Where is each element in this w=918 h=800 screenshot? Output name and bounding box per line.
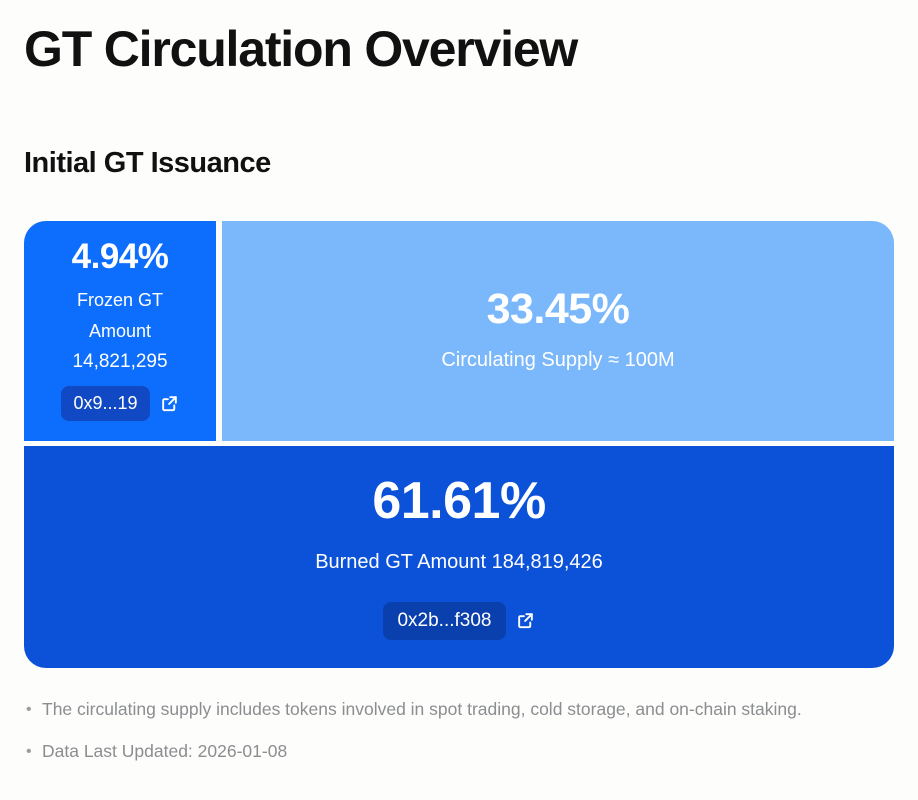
page-title: GT Circulation Overview bbox=[24, 17, 577, 81]
footnote-item: The circulating supply includes tokens i… bbox=[24, 694, 894, 725]
external-link-icon[interactable] bbox=[516, 611, 535, 630]
circulating-percent: 33.45% bbox=[487, 287, 630, 332]
segment-frozen-gt[interactable]: 4.94% Frozen GT Amount 14,821,295 0x9...… bbox=[24, 221, 216, 441]
burned-address-badge[interactable]: 0x2b...f308 bbox=[383, 602, 505, 640]
frozen-label-line1: Frozen GT bbox=[77, 285, 163, 316]
footnote-list: The circulating supply includes tokens i… bbox=[24, 694, 894, 767]
segment-circulating-supply[interactable]: 33.45% Circulating Supply ≈ 100M bbox=[222, 221, 894, 441]
gt-circulation-page: GT Circulation Overview Initial GT Issua… bbox=[0, 0, 918, 800]
issuance-breakdown-chart: 4.94% Frozen GT Amount 14,821,295 0x9...… bbox=[24, 221, 894, 668]
burned-address-row: 0x2b...f308 bbox=[383, 602, 534, 640]
burned-percent: 61.61% bbox=[372, 474, 545, 529]
section-title: Initial GT Issuance bbox=[24, 142, 271, 184]
frozen-address-badge[interactable]: 0x9...19 bbox=[61, 386, 149, 421]
external-link-icon[interactable] bbox=[160, 394, 179, 413]
footnote-item: Data Last Updated: 2026-01-08 bbox=[24, 736, 894, 767]
frozen-amount: 14,821,295 bbox=[72, 347, 167, 377]
segment-burned-gt[interactable]: 61.61% Burned GT Amount 184,819,426 0x2b… bbox=[24, 446, 894, 668]
frozen-label-line2: Amount bbox=[89, 316, 151, 347]
frozen-address-row: 0x9...19 bbox=[61, 386, 178, 421]
burned-label: Burned GT Amount 184,819,426 bbox=[315, 547, 603, 577]
chart-top-row: 4.94% Frozen GT Amount 14,821,295 0x9...… bbox=[24, 221, 894, 441]
circulating-label: Circulating Supply ≈ 100M bbox=[441, 345, 674, 375]
frozen-percent: 4.94% bbox=[72, 239, 169, 276]
